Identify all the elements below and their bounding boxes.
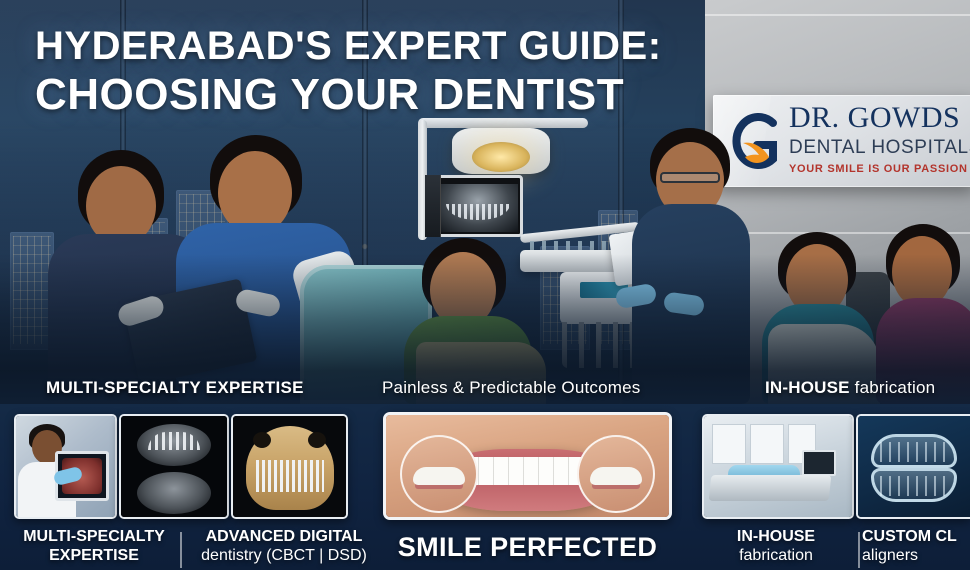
dental-light-arm xyxy=(418,118,588,128)
caption-divider xyxy=(858,532,860,568)
caption-line-1: CUSTOM CL xyxy=(862,528,970,547)
upper-aligner xyxy=(871,434,957,468)
eyeglasses-icon xyxy=(660,172,720,183)
thumbnail-smile-perfected[interactable] xyxy=(383,412,672,520)
lab-monitor xyxy=(802,450,836,476)
thumbnail-cbct-slices[interactable] xyxy=(119,414,229,519)
hero-caption-painless: Painless & Predictable Outcomes xyxy=(382,378,641,398)
infographic-poster: DR. GOWDS DENTAL HOSPITALS YOUR SMILE IS… xyxy=(0,0,970,570)
jaw-reconstruction-art xyxy=(233,416,346,517)
caption-line-1: IN-HOUSE xyxy=(694,528,858,547)
sign-text-block: DR. GOWDS DENTAL HOSPITALS YOUR SMILE IS… xyxy=(789,103,970,175)
caption-line-2: fabrication xyxy=(694,547,858,566)
upper-dental-arch xyxy=(256,460,324,476)
lab-cabinet xyxy=(712,424,746,464)
hero-caption-row: MULTI-SPECIALTY EXPERTISE Painless & Pre… xyxy=(0,372,970,404)
page-title: HYDERABAD'S EXPERT GUIDE: CHOOSING YOUR … xyxy=(35,26,662,118)
caption-custom-aligners: CUSTOM CL aligners xyxy=(862,528,970,565)
smile-closeup-art xyxy=(386,415,669,517)
axial-slice-lower xyxy=(137,472,211,514)
brand-name: DR. GOWDS xyxy=(789,103,970,133)
caption-line-1: MULTI-SPECIALTY xyxy=(10,528,178,547)
brand-subtitle: DENTAL HOSPITALS xyxy=(789,138,970,157)
lab-art xyxy=(704,416,852,517)
caption-divider xyxy=(180,532,182,568)
title-line-2: CHOOSING YOUR DENTIST xyxy=(35,73,662,118)
before-inset-circle xyxy=(400,435,478,513)
caption-advanced-digital: ADVANCED DIGITAL dentistry (CBCT | DSD) xyxy=(186,528,382,565)
dental-arch-markers xyxy=(148,432,200,450)
cbct-art xyxy=(121,416,227,517)
feature-strip: MULTI-SPECIALTY EXPERTISE ADVANCED DIGIT… xyxy=(0,404,970,570)
caption-multi-specialty: MULTI-SPECIALTY EXPERTISE xyxy=(10,528,178,565)
title-line-1: HYDERABAD'S EXPERT GUIDE: xyxy=(35,26,662,67)
intraoral-scan-art xyxy=(16,416,115,517)
caption-line-2: aligners xyxy=(862,547,970,566)
lab-cabinet xyxy=(750,424,784,464)
thumbnail-dental-lab[interactable] xyxy=(702,414,854,519)
hero-caption-in-house-bold: IN-HOUSE xyxy=(765,378,850,397)
lower-dental-arch xyxy=(256,476,324,492)
caption-smile-perfected: SMILE PERFECTED xyxy=(383,532,672,563)
thumbnail-3d-jaw[interactable] xyxy=(231,414,348,519)
orbit-socket xyxy=(308,432,326,448)
monitor-side-panel xyxy=(425,175,441,237)
caption-in-house: IN-HOUSE fabrication xyxy=(694,528,858,565)
hero-caption-in-house: IN-HOUSE fabrication xyxy=(765,378,935,398)
dental-light-glow xyxy=(472,142,530,172)
orbit-socket xyxy=(253,432,271,448)
thumbnail-clear-aligners[interactable] xyxy=(856,414,970,519)
hero-caption-multi-specialty: MULTI-SPECIALTY EXPERTISE xyxy=(46,378,304,398)
after-inset-circle xyxy=(577,435,655,513)
caption-line-2: EXPERTISE xyxy=(10,547,178,566)
caption-line-2: dentistry (CBCT | DSD) xyxy=(186,547,382,566)
lab-bench xyxy=(709,475,832,501)
caption-line-1: ADVANCED DIGITAL xyxy=(186,528,382,547)
lower-aligner xyxy=(871,468,957,502)
clinic-signboard: DR. GOWDS DENTAL HOSPITALS YOUR SMILE IS… xyxy=(713,95,970,187)
wall-light-line xyxy=(705,14,970,16)
brand-tagline: YOUR SMILE IS OUR PASSION xyxy=(789,164,970,175)
thumbnail-intraoral-scan[interactable] xyxy=(14,414,117,519)
panoramic-xray-image xyxy=(438,184,518,232)
aligner-art xyxy=(858,416,970,517)
hero-caption-in-house-rest: fabrication xyxy=(850,378,936,397)
